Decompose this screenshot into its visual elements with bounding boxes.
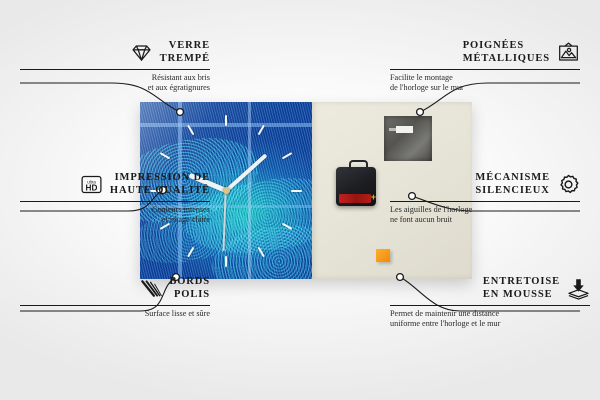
callout-mecanisme-silencieux: MÉCANISME SILENCIEUX Les aiguilles de l'… — [390, 172, 580, 225]
infographic-stage: VERRE TREMPÉ Résistant aux bris et aux é… — [0, 0, 600, 400]
foam-spacer — [376, 249, 390, 262]
callout-subtitle: Les aiguilles de l'horloge ne font aucun… — [390, 205, 580, 225]
callout-title: ENTRETOISE EN MOUSSE — [483, 276, 560, 301]
callout-impression-haute-qualite: ultra HD IMPRESSION DE HAUTE QUALITÉ Cou… — [20, 172, 210, 225]
callout-header: ENTRETOISE EN MOUSSE — [390, 276, 590, 301]
ultra-hd-icon: ultra HD — [80, 173, 103, 196]
metal-hanger-icon — [384, 116, 432, 161]
callout-rule — [390, 305, 590, 306]
callout-title: MÉCANISME SILENCIEUX — [475, 172, 550, 197]
callout-title: POIGNÉES MÉTALLIQUES — [463, 40, 550, 65]
callout-subtitle: Résistant aux bris et aux égratignures — [20, 73, 210, 93]
callout-verre-trempe: VERRE TREMPÉ Résistant aux bris et aux é… — [20, 40, 210, 93]
callout-rule — [390, 69, 580, 70]
polished-edges-icon — [139, 277, 162, 300]
callout-header: MÉCANISME SILENCIEUX — [390, 172, 580, 197]
callout-entretoise-en-mousse: ENTRETOISE EN MOUSSE Permet de maintenir… — [390, 276, 590, 329]
callout-rule — [20, 201, 210, 202]
callout-title: IMPRESSION DE HAUTE QUALITÉ — [110, 172, 210, 197]
callout-header: ultra HD IMPRESSION DE HAUTE QUALITÉ — [20, 172, 210, 197]
ultra-hd-large-label: HD — [85, 184, 97, 193]
gear-icon — [557, 173, 580, 196]
callout-rule — [390, 201, 580, 202]
callout-header: POIGNÉES MÉTALLIQUES — [390, 40, 580, 65]
callout-poignees-metalliques: POIGNÉES MÉTALLIQUES Facilite le montage… — [390, 40, 580, 93]
callout-subtitle: Permet de maintenir une distance uniform… — [390, 309, 590, 329]
callout-subtitle: Couleurs intenses et image claire — [20, 205, 210, 225]
arrow-down-pad-icon — [567, 277, 590, 300]
callout-rule — [20, 69, 210, 70]
callout-subtitle: Surface lisse et sûre — [20, 309, 210, 319]
callout-subtitle: Facilite le montage de l'horloge sur le … — [390, 73, 580, 93]
battery — [339, 194, 371, 203]
clock-mechanism — [336, 167, 376, 206]
callout-title: BORDS POLIS — [169, 276, 210, 301]
callout-header: BORDS POLIS — [20, 276, 210, 301]
picture-frame-hook-icon — [557, 41, 580, 64]
callout-title: VERRE TREMPÉ — [160, 40, 210, 65]
callout-bords-polis: BORDS POLIS Surface lisse et sûre — [20, 276, 210, 319]
diamond-icon — [130, 41, 153, 64]
callout-header: VERRE TREMPÉ — [20, 40, 210, 65]
callout-rule — [20, 305, 210, 306]
